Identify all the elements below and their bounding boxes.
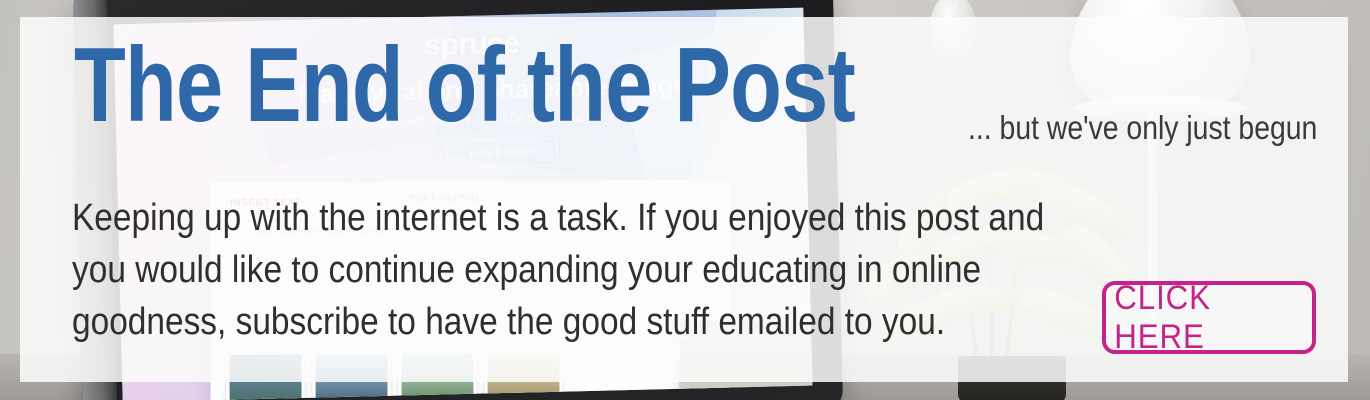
click-here-label: CLICK HERE (1114, 279, 1304, 357)
tagline: ... but we've only just begun (968, 110, 1317, 146)
newsletter-cta-banner: spruce Make viral and shareable images C… (0, 0, 1370, 400)
click-here-button[interactable]: CLICK HERE (1102, 281, 1316, 354)
body-line: goodness, subscribe to have the good stu… (72, 296, 1044, 348)
body-line: you would like to continue expanding you… (72, 244, 1044, 296)
body-line: Keeping up with the internet is a task. … (72, 192, 1044, 244)
banner-content: The End of the Post ... but we've only j… (0, 0, 1370, 400)
body-copy: Keeping up with the internet is a task. … (72, 192, 1177, 348)
page-title: The End of the Post (74, 32, 855, 138)
